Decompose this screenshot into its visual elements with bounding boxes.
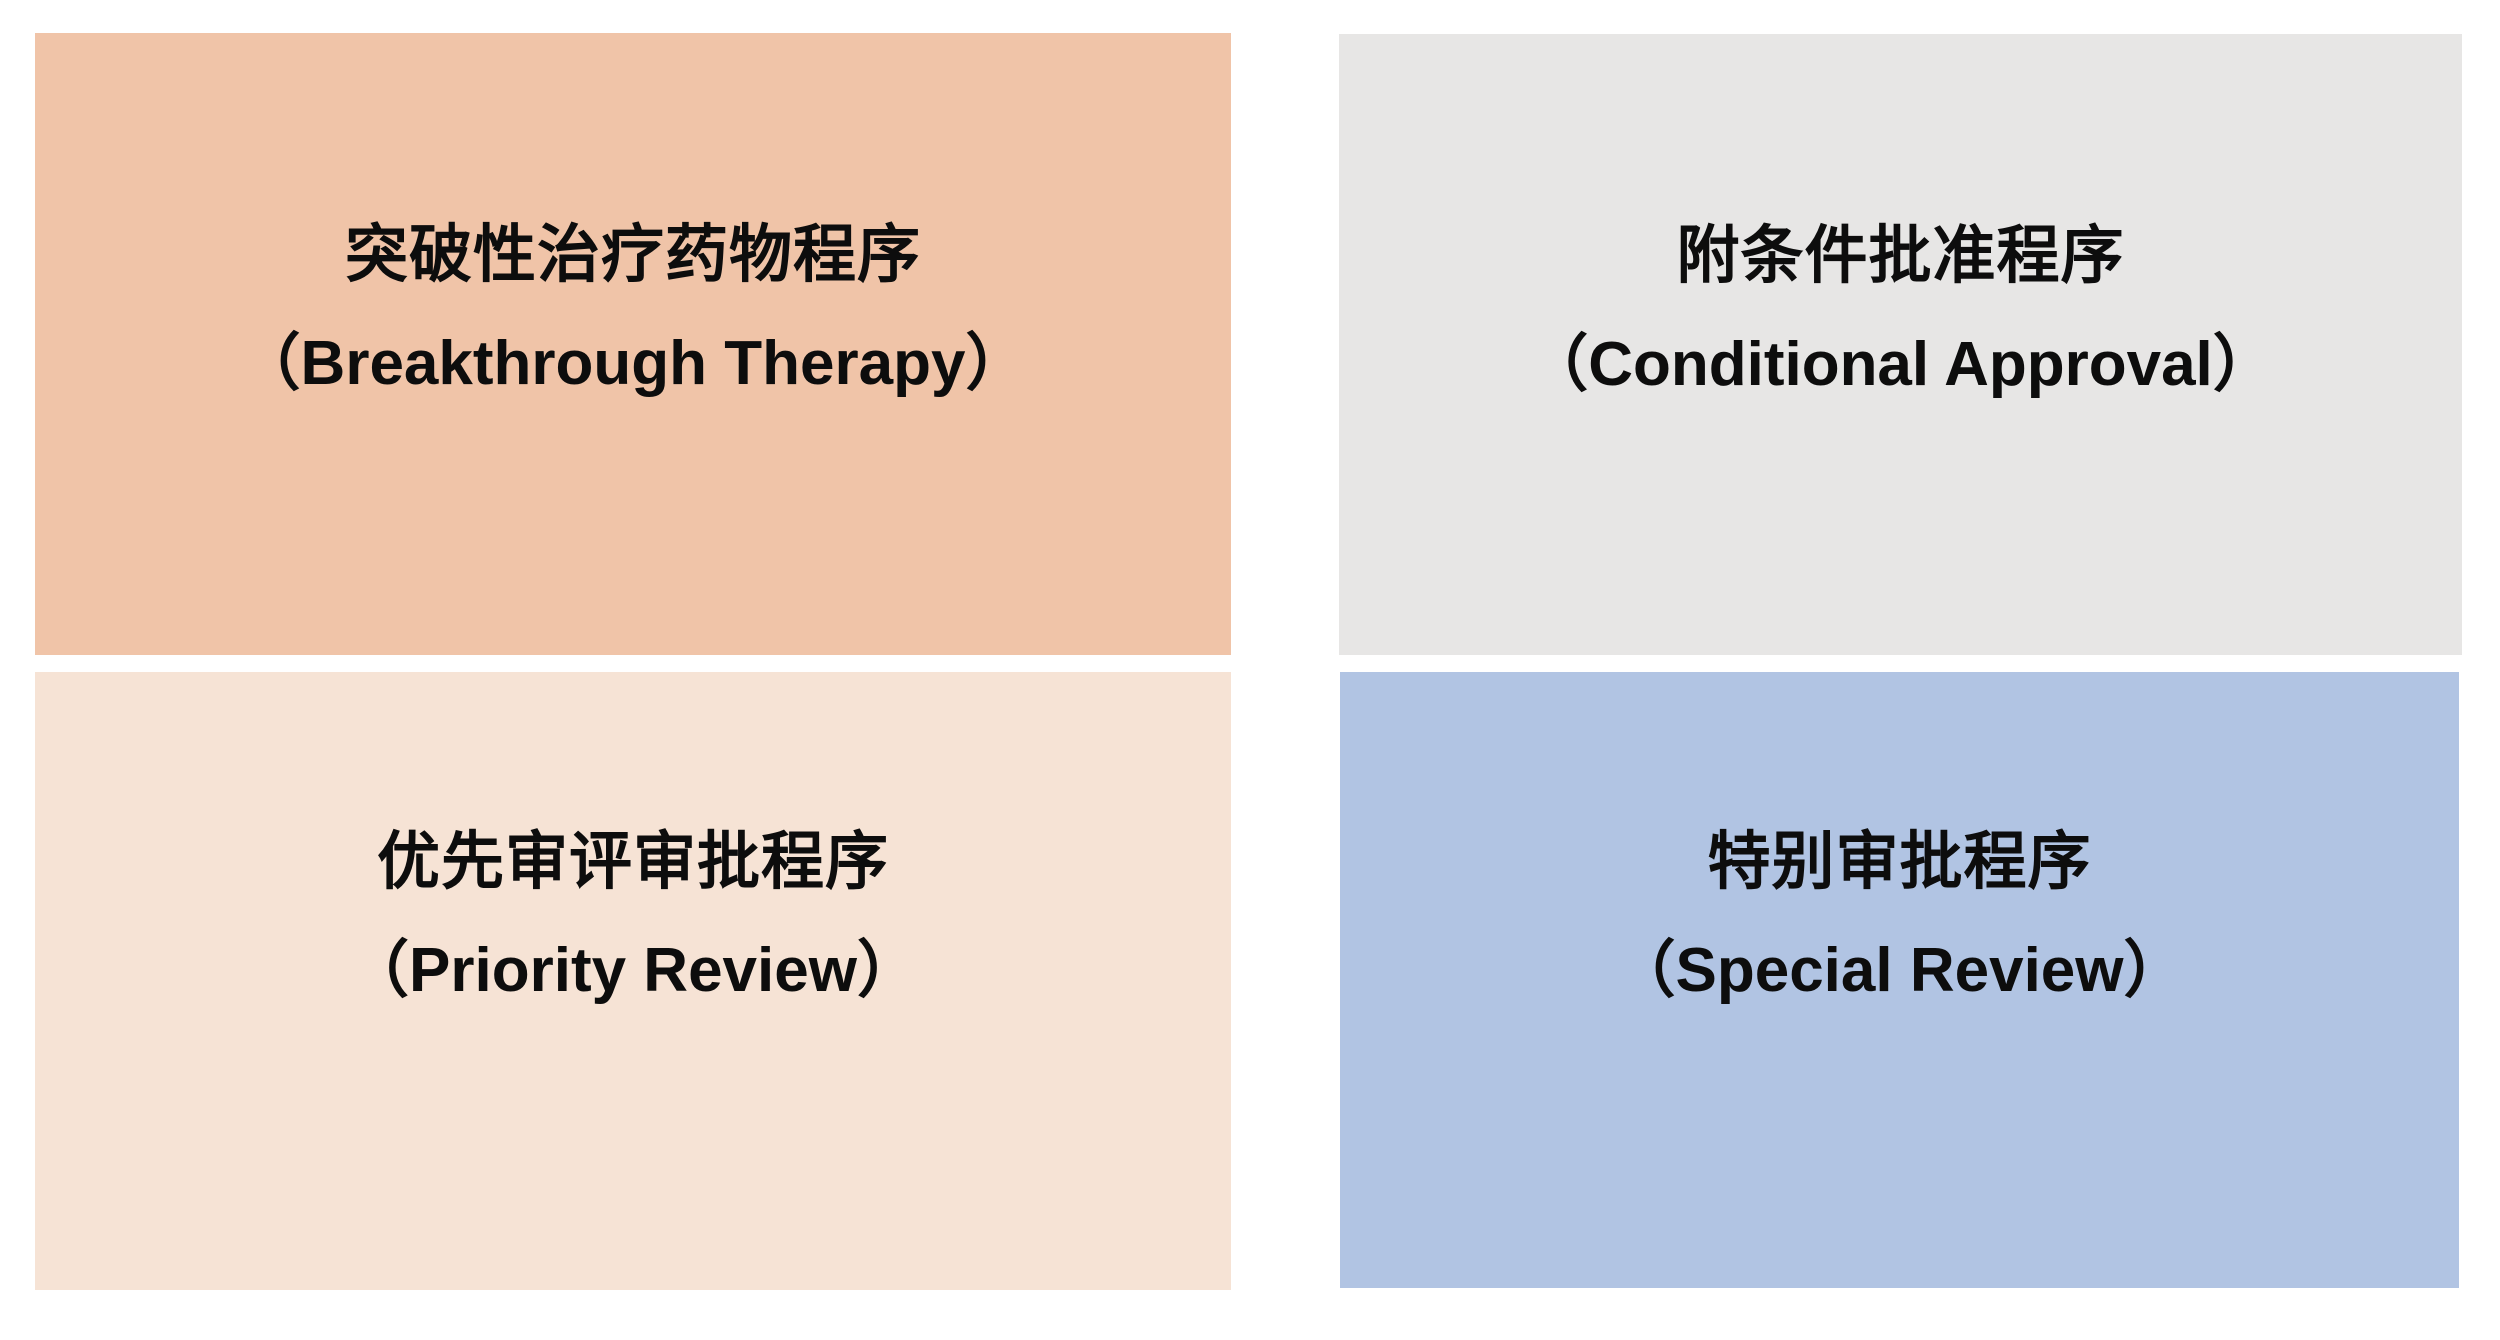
- diagram-canvas: 突破性治疗药物程序 （Breakthrough Therapy） 附条件批准程序…: [0, 0, 2500, 1340]
- box-label-block: 突破性治疗药物程序 （Breakthrough Therapy）: [35, 33, 1231, 404]
- box-conditional-approval[interactable]: 附条件批准程序 （Conditional Approval）: [1339, 34, 2462, 655]
- box-label-block: 特别审批程序 （Special Review）: [1340, 672, 2459, 1011]
- box-title-en: （Conditional Approval）: [1339, 325, 2462, 406]
- box-label-block: 优先审评审批程序 （Priority Review）: [35, 672, 1231, 1011]
- box-title-cn: 特别审批程序: [1340, 822, 2459, 903]
- box-title-cn: 优先审评审批程序: [35, 822, 1231, 903]
- box-title-cn: 突破性治疗药物程序: [35, 215, 1231, 296]
- box-priority-review[interactable]: 优先审评审批程序 （Priority Review）: [35, 672, 1231, 1290]
- box-title-en: （Special Review）: [1340, 931, 2459, 1012]
- box-title-cn: 附条件批准程序: [1339, 216, 2462, 297]
- box-title-en: （Priority Review）: [35, 931, 1231, 1012]
- box-special-review[interactable]: 特别审批程序 （Special Review）: [1340, 672, 2459, 1288]
- box-label-block: 附条件批准程序 （Conditional Approval）: [1339, 34, 2462, 405]
- box-title-en: （Breakthrough Therapy）: [35, 324, 1231, 405]
- box-breakthrough-therapy[interactable]: 突破性治疗药物程序 （Breakthrough Therapy）: [35, 33, 1231, 655]
